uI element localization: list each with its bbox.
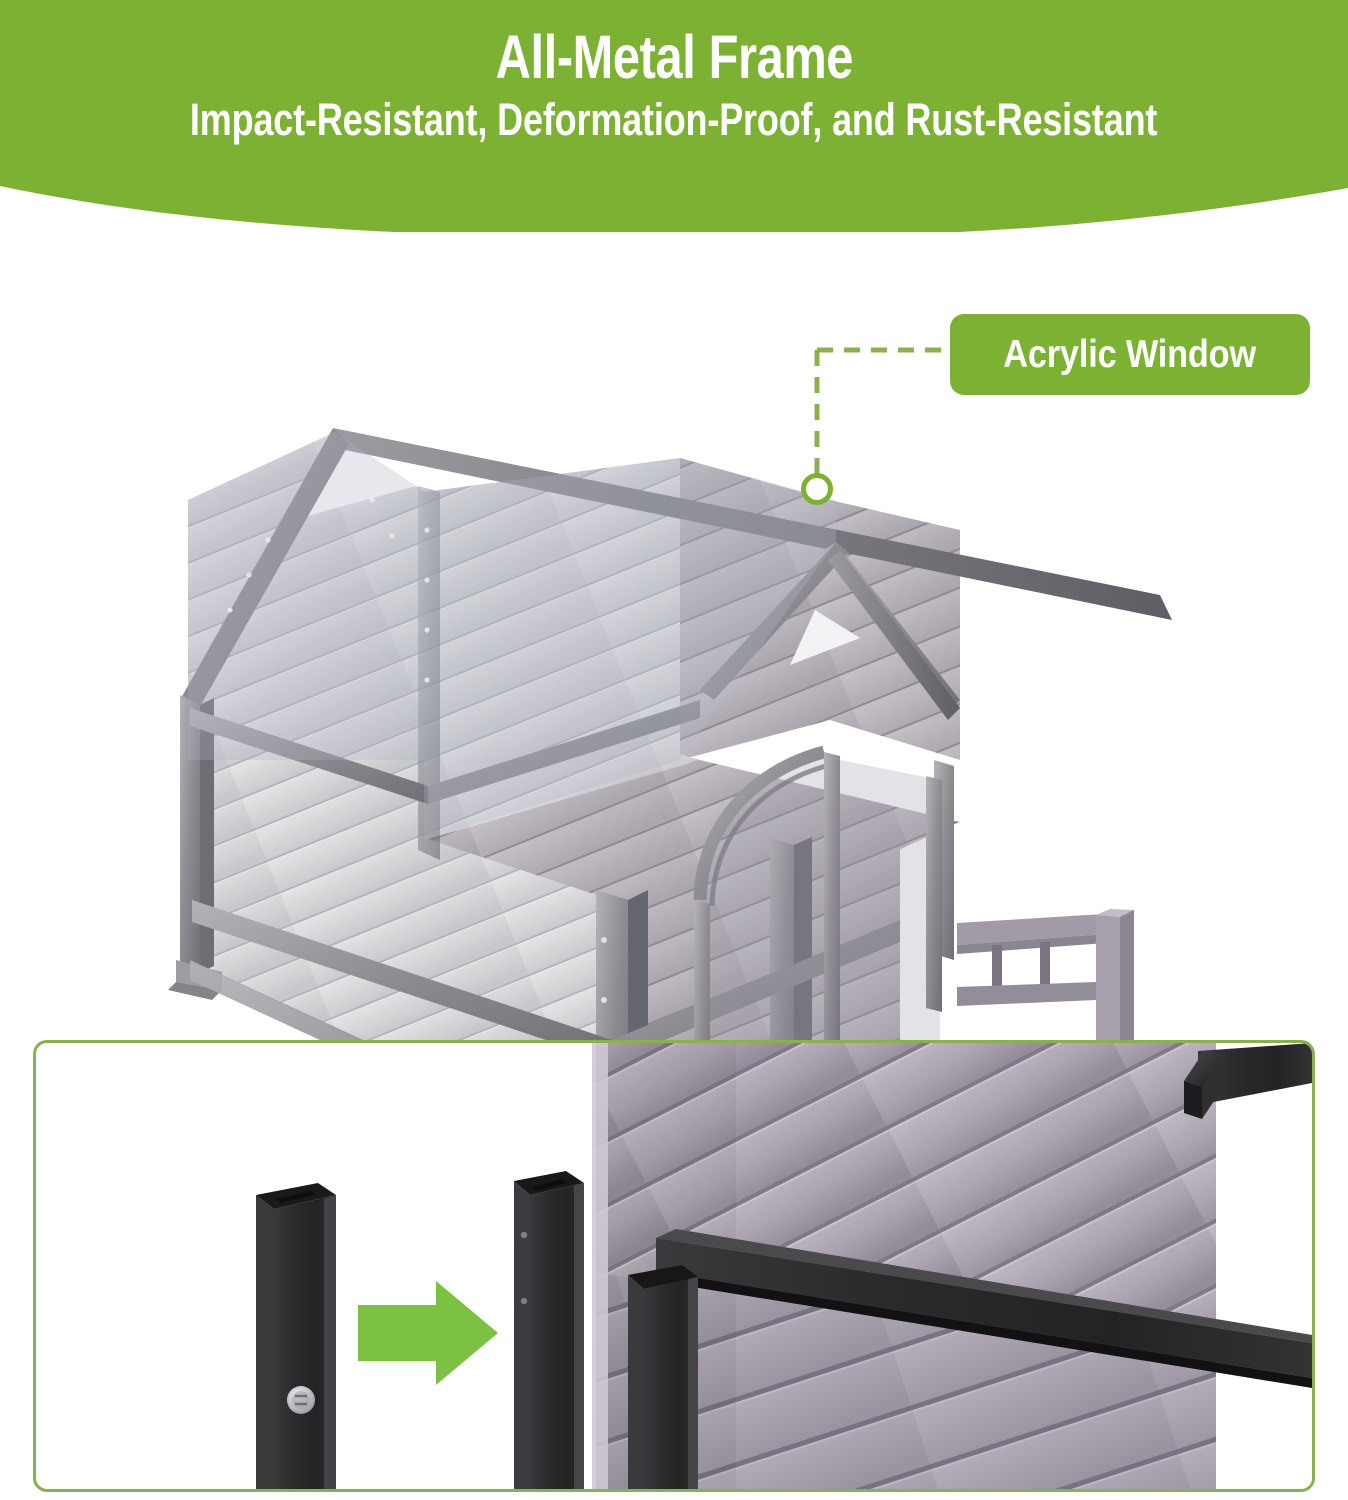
assembly-arrow (358, 1281, 498, 1385)
black-metal-post-installed (514, 1171, 584, 1489)
porch-railing (957, 909, 1134, 1040)
assembly-detail-illustration (36, 1043, 1312, 1489)
acrylic-window-callout-label: Acrylic Window (1004, 333, 1257, 377)
assembly-detail-panel (33, 1040, 1315, 1492)
black-metal-post-detached (256, 1183, 336, 1489)
header-banner: All-Metal Frame Impact-Resistant, Deform… (0, 0, 1348, 232)
acrylic-window-marker (801, 473, 833, 505)
header-banner-shape (0, 0, 1348, 232)
black-metal-post-secondary (628, 1265, 698, 1489)
acrylic-window-callout-badge[interactable]: Acrylic Window (950, 314, 1310, 395)
product-infographic-page: All-Metal Frame Impact-Resistant, Deform… (0, 0, 1348, 1500)
